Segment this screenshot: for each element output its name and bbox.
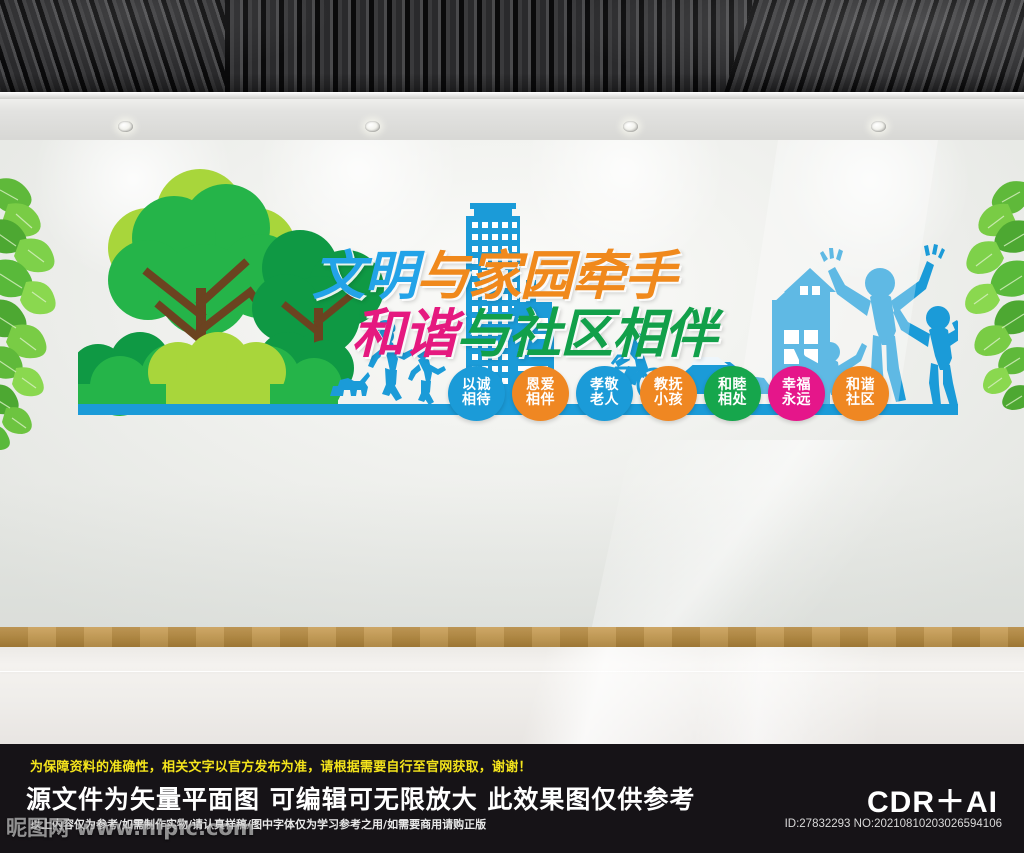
- value-badge[interactable]: 以诚 相待: [448, 366, 505, 421]
- wall-graphic: 文明与家园牵手 和谐与社区相伴 以诚 相待 恩爱 相伴 孝敬 老人 教抚 小孩: [0, 140, 1024, 630]
- floor-tile-seam: [0, 671, 1024, 672]
- downlight-icon: [871, 121, 886, 132]
- value-badge[interactable]: 和谐 社区: [832, 366, 889, 421]
- hanging-ivy-right: [934, 178, 1024, 448]
- bottom-info-banner: 为保障资料的准确性，相关文字以官方发布为准，请根据需要自行至官网获取，谢谢！ 源…: [0, 744, 1024, 853]
- badge-top-text: 幸福: [782, 378, 811, 393]
- badge-top-text: 和睦: [718, 378, 747, 393]
- value-badge[interactable]: 和睦 相处: [704, 366, 761, 421]
- downlight-icon: [118, 121, 133, 132]
- value-badge[interactable]: 幸福 永远: [768, 366, 825, 421]
- badge-bottom-text: 小孩: [654, 393, 683, 408]
- badge-bottom-text: 社区: [846, 393, 875, 408]
- value-badge[interactable]: 教抚 小孩: [640, 366, 697, 421]
- banner-id-line: ID:27832293 NO:20210810203026594106: [785, 818, 1002, 830]
- value-badge-row: 以诚 相待 恩爱 相伴 孝敬 老人 教抚 小孩 和睦 相处 幸福 永远: [448, 365, 918, 421]
- banner-fine-print: 以上内容仅为参考/如需制作实物/请认真样稿/图中字体仅为学习参考之用/如需要商用…: [30, 816, 486, 832]
- badge-bottom-text: 相处: [718, 393, 747, 408]
- badge-bottom-text: 永远: [782, 393, 811, 408]
- bush-cluster: [78, 332, 354, 416]
- wall-baseboard: [0, 627, 1024, 647]
- value-badge[interactable]: 恩爱 相伴: [512, 366, 569, 421]
- hanging-ivy-left: [0, 170, 96, 470]
- badge-bottom-text: 老人: [590, 393, 619, 408]
- floor-surface: [0, 647, 1024, 744]
- banner-main-text: 源文件为矢量平面图 可编辑可无限放大 此效果图仅供参考: [26, 780, 695, 816]
- badge-top-text: 恩爱: [526, 378, 555, 393]
- banner-format-label: CDR＋AI: [867, 777, 998, 821]
- headline-line2-seg2: 与社区相伴: [456, 304, 716, 365]
- badge-top-text: 教抚: [654, 378, 683, 393]
- screenshot-stage: 文明与家园牵手 和谐与社区相伴 以诚 相待 恩爱 相伴 孝敬 老人 教抚 小孩: [0, 0, 1024, 853]
- ceiling: [0, 0, 1024, 95]
- badge-bottom-text: 相伴: [526, 393, 555, 408]
- badge-top-text: 和谐: [846, 378, 875, 393]
- headline-line-2: 和谐与社区相伴: [352, 292, 716, 368]
- ceiling-soffit-lip: [0, 92, 1024, 99]
- value-badge[interactable]: 孝敬 老人: [576, 366, 633, 421]
- floor-reflection: [0, 647, 1024, 744]
- ceiling-soffit: [0, 92, 1024, 144]
- badge-top-text: 以诚: [462, 378, 491, 393]
- badge-top-text: 孝敬: [590, 378, 619, 393]
- headline-line2-seg1: 和谐: [352, 304, 456, 365]
- downlight-icon: [365, 121, 380, 132]
- downlight-icon: [623, 121, 638, 132]
- banner-accuracy-note: 为保障资料的准确性，相关文字以官方发布为准，请根据需要自行至官网获取，谢谢！: [30, 756, 532, 775]
- badge-bottom-text: 相待: [462, 393, 491, 408]
